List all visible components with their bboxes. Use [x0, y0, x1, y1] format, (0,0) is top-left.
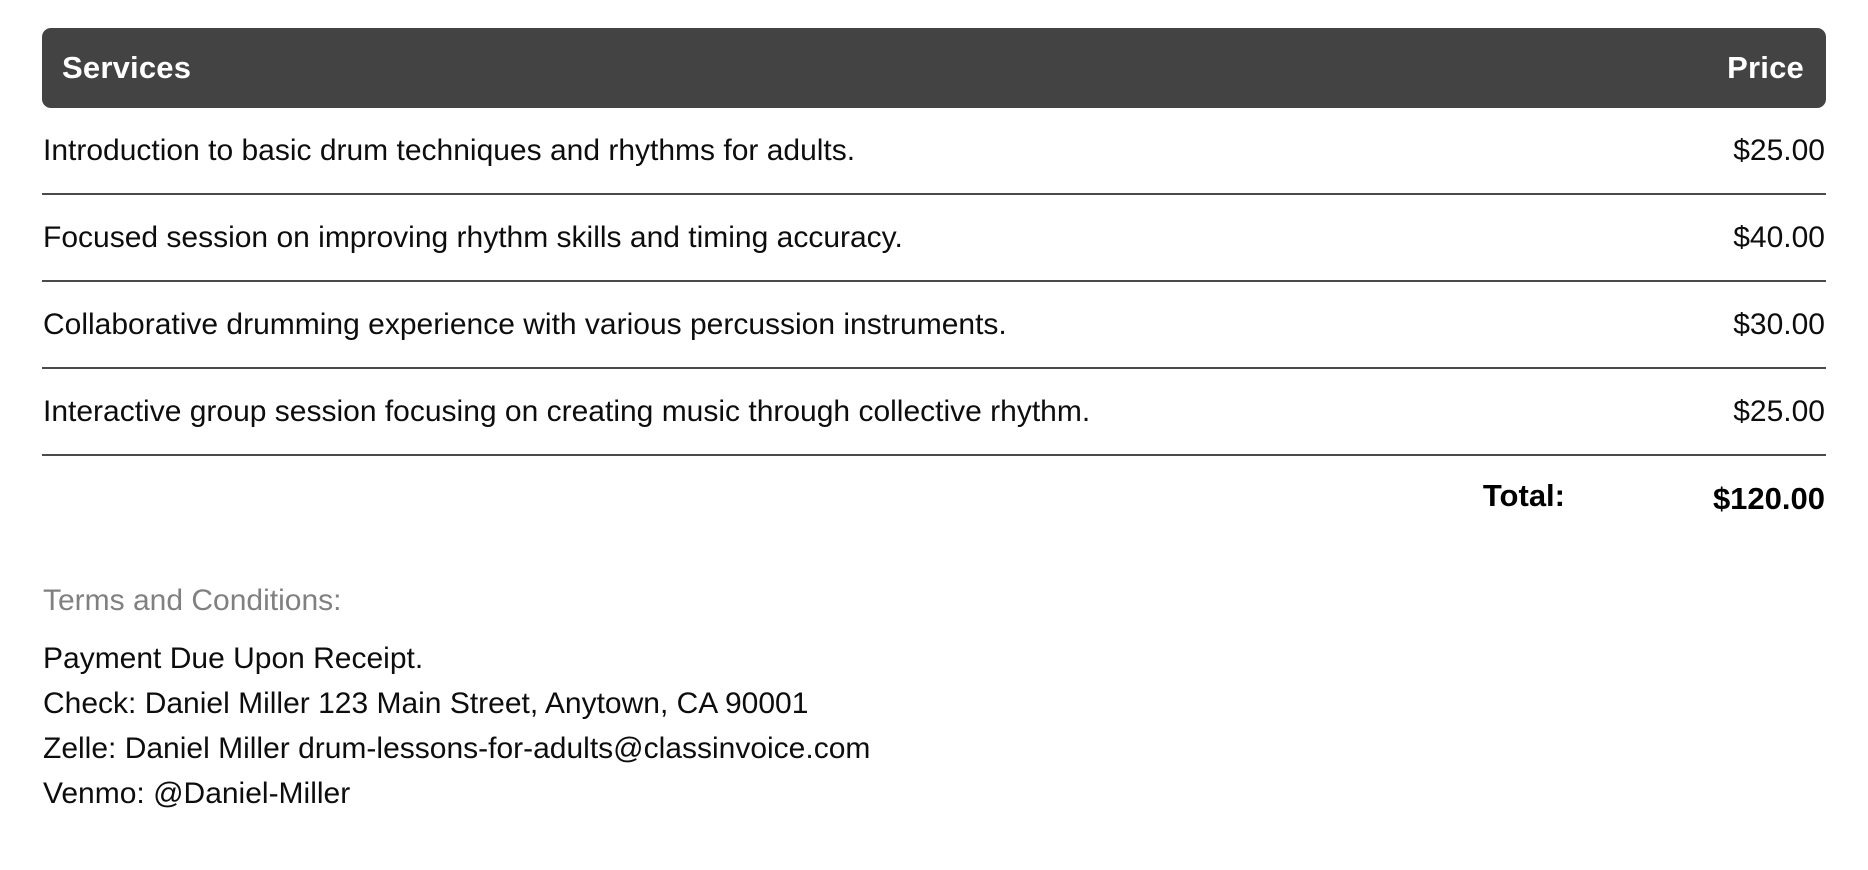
terms-line-payment-due: Payment Due Upon Receipt. [43, 636, 1826, 681]
terms-heading: Terms and Conditions: [43, 586, 1826, 616]
table-body: Introduction to basic drum techniques an… [42, 108, 1826, 455]
table-header-row: Services Price [42, 28, 1826, 108]
service-description: Collaborative drumming experience with v… [42, 281, 1504, 368]
service-price: $40.00 [1504, 194, 1826, 281]
services-price-table: Services Price Introduction to basic dru… [42, 28, 1826, 542]
table-row: Interactive group session focusing on cr… [42, 368, 1826, 455]
terms-and-conditions-block: Terms and Conditions: Payment Due Upon R… [42, 586, 1826, 816]
service-description: Interactive group session focusing on cr… [42, 368, 1504, 455]
service-price: $25.00 [1504, 368, 1826, 455]
column-header-services: Services [42, 28, 1504, 108]
service-price: $25.00 [1504, 108, 1826, 194]
total-spacer [42, 455, 1504, 542]
table-row: Introduction to basic drum techniques an… [42, 108, 1826, 194]
terms-line-zelle: Zelle: Daniel Miller drum-lessons-for-ad… [43, 726, 1826, 771]
service-description: Focused session on improving rhythm skil… [42, 194, 1504, 281]
service-description: Introduction to basic drum techniques an… [42, 108, 1504, 194]
terms-line-check: Check: Daniel Miller 123 Main Street, An… [43, 681, 1826, 726]
table-header: Services Price [42, 28, 1826, 108]
service-price: $30.00 [1504, 281, 1826, 368]
column-header-price: Price [1504, 28, 1826, 108]
invoice-services-section: Services Price Introduction to basic dru… [0, 0, 1868, 870]
terms-line-venmo: Venmo: @Daniel-Miller [43, 771, 1826, 816]
table-row: Focused session on improving rhythm skil… [42, 194, 1826, 281]
table-row: Collaborative drumming experience with v… [42, 281, 1826, 368]
total-label: Total: [1483, 478, 1565, 514]
